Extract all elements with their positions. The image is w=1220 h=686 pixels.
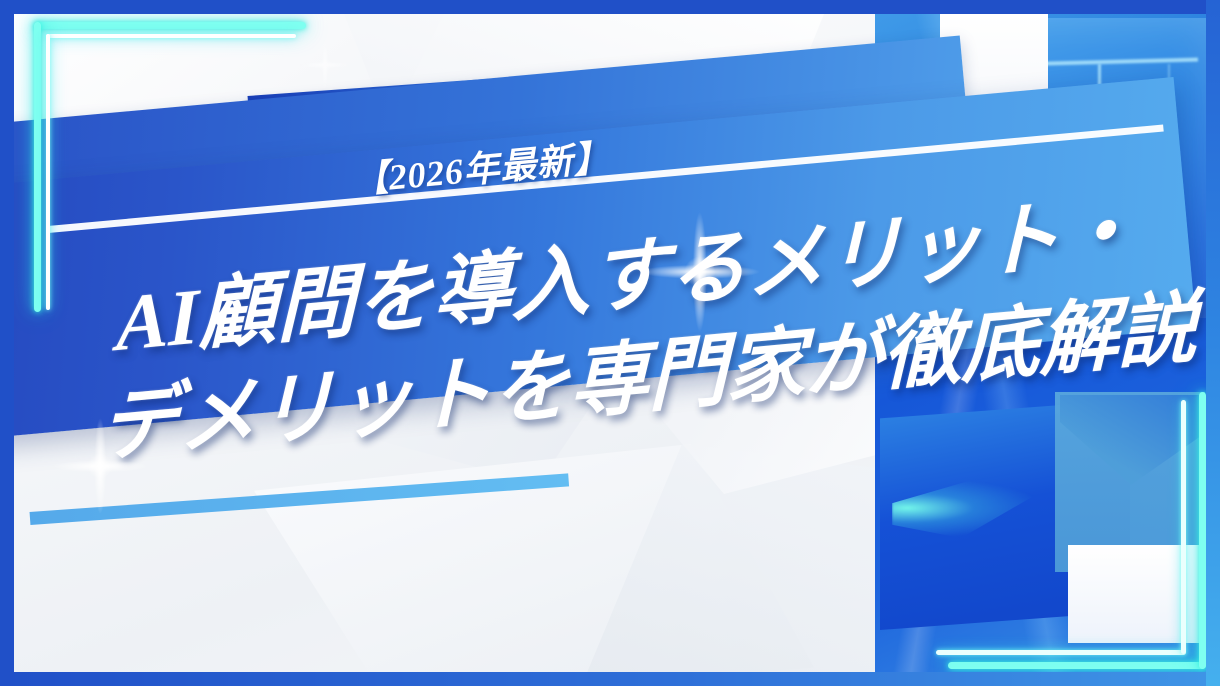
neon-frame-top-left-vertical [34, 22, 41, 312]
outer-border-bottom [0, 672, 1220, 686]
outer-border-right [1206, 0, 1220, 686]
thumbnail-canvas: 【2026年最新】 AI顧問を導入するメリット・ デメリットを専門家が徹底解説 [0, 0, 1220, 686]
neon-frame-inner-bottom [936, 650, 1186, 655]
glass-gleam [892, 478, 1042, 538]
neon-frame-top-left-horizontal [34, 22, 306, 29]
neon-frame-inner-right [1181, 400, 1186, 654]
neon-frame-bottom-right-vertical [1199, 392, 1206, 669]
neon-frame-inner-left [46, 34, 50, 310]
neon-frame-inner-top [46, 34, 296, 38]
neon-frame-bottom-right-horizontal [948, 662, 1206, 669]
